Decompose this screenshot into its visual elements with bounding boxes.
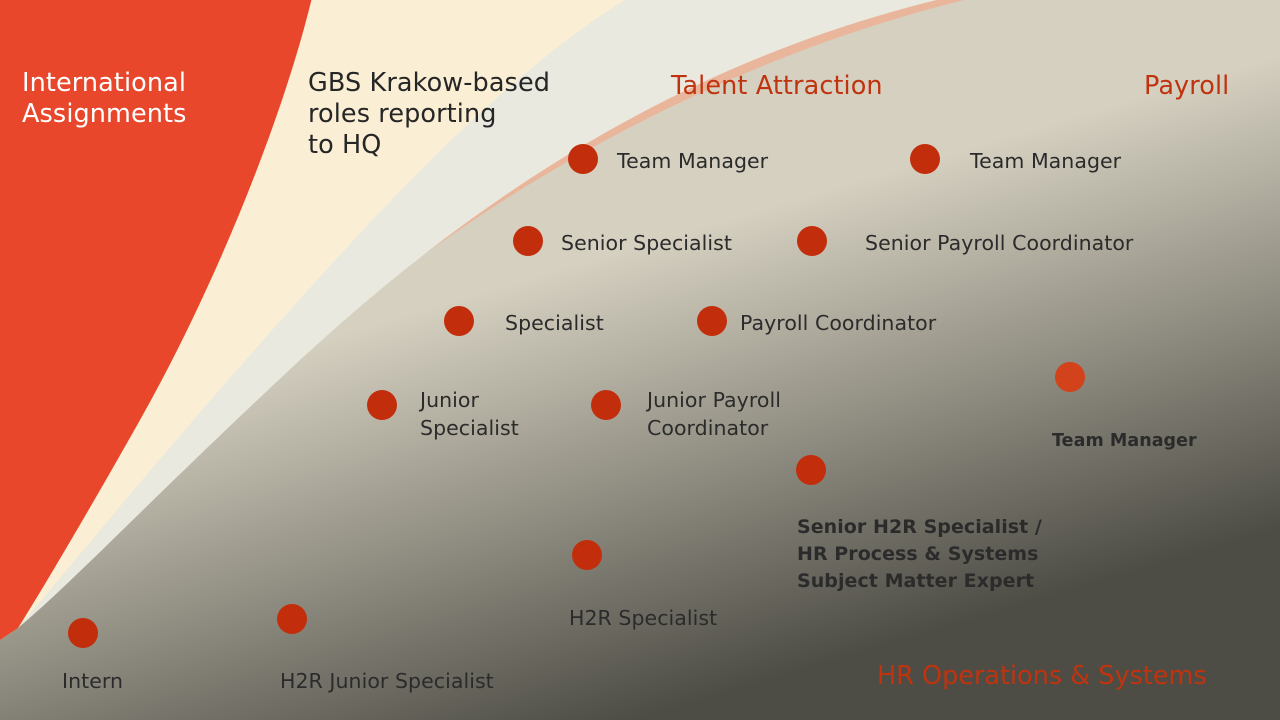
career-path-diagram: International Assignments GBS Krakow-bas…	[0, 0, 1280, 720]
node-ta-team-manager[interactable]	[568, 144, 598, 174]
node-label-hr-h2r-specialist: H2R Specialist	[569, 605, 717, 633]
node-label-ta-senior-specialist: Senior Specialist	[561, 230, 732, 258]
node-pay-junior-coordinator[interactable]	[591, 390, 621, 420]
band-title-hr-operations: HR Operations & Systems	[877, 661, 1207, 691]
node-pay-senior-coordinator[interactable]	[797, 226, 827, 256]
band-title-international-assignments: International Assignments	[22, 68, 187, 130]
node-hr-team-manager[interactable]	[1055, 362, 1085, 392]
node-pay-coordinator[interactable]	[697, 306, 727, 336]
node-hr-junior-specialist[interactable]	[277, 604, 307, 634]
node-pay-team-manager[interactable]	[910, 144, 940, 174]
node-label-pay-junior-coordinator: Junior Payroll Coordinator	[647, 387, 781, 442]
node-label-pay-coordinator: Payroll Coordinator	[740, 310, 936, 338]
node-label-hr-junior-specialist: H2R Junior Specialist	[280, 668, 494, 696]
node-label-ta-team-manager: Team Manager	[617, 148, 768, 176]
band-title-payroll: Payroll	[1144, 71, 1229, 102]
node-hr-h2r-specialist[interactable]	[572, 540, 602, 570]
node-label-pay-team-manager: Team Manager	[970, 148, 1121, 176]
node-ta-specialist[interactable]	[444, 306, 474, 336]
node-hr-intern[interactable]	[68, 618, 98, 648]
node-label-pay-senior-coordinator: Senior Payroll Coordinator	[865, 230, 1133, 258]
node-ta-senior-specialist[interactable]	[513, 226, 543, 256]
node-label-hr-senior-h2r: Senior H2R Specialist / HR Process & Sys…	[797, 514, 1042, 595]
band-title-talent-attraction: Talent Attraction	[671, 71, 883, 102]
node-hr-senior-h2r[interactable]	[796, 455, 826, 485]
node-label-ta-junior-specialist: Junior Specialist	[420, 387, 519, 442]
node-label-hr-team-manager: Team Manager	[1052, 430, 1197, 454]
node-ta-junior-specialist[interactable]	[367, 390, 397, 420]
node-label-hr-intern: Intern	[62, 668, 123, 696]
node-label-ta-specialist: Specialist	[505, 310, 604, 338]
band-title-gbs-krakow: GBS Krakow-based roles reporting to HQ	[308, 68, 550, 161]
